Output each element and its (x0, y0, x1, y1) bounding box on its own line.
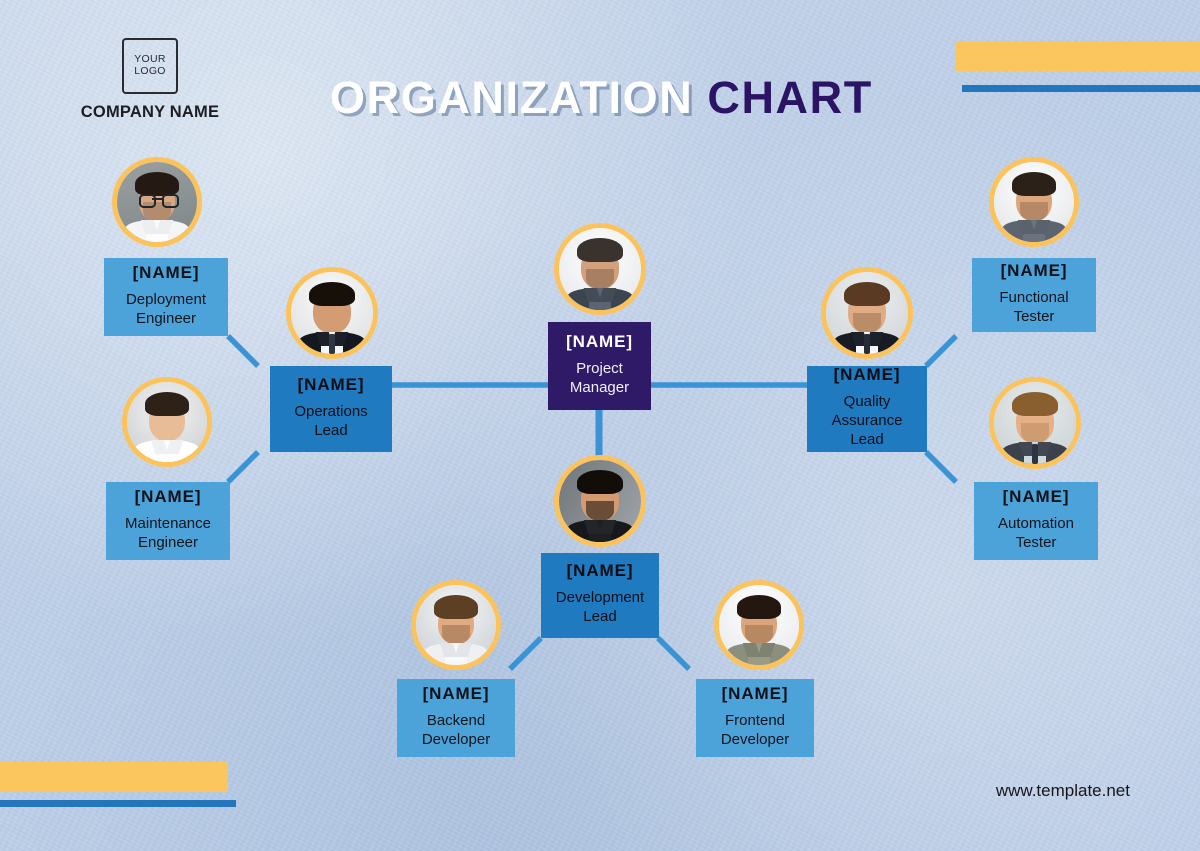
role-backend-developer: Backend Developer (422, 711, 490, 749)
glasses-icon (139, 194, 156, 208)
role-functional-tester: Functional Tester (999, 288, 1068, 326)
name-quality-assurance-lead: [NAME] (834, 366, 901, 385)
card-maintenance-engineer[interactable]: [NAME] Maintenance Engineer (106, 482, 230, 560)
footer-url[interactable]: www.template.net (996, 781, 1130, 801)
avatar-frontend-developer (714, 580, 804, 670)
portrait-automation-tester (994, 382, 1076, 464)
role-quality-assurance-lead: Quality Assurance Lead (813, 392, 921, 450)
avatar-development-lead (554, 455, 646, 547)
portrait-project-manager (559, 228, 641, 310)
name-deployment-engineer: [NAME] (133, 264, 200, 283)
avatar-deployment-engineer (112, 157, 202, 247)
card-project-manager[interactable]: [NAME] Project Manager (548, 322, 651, 410)
avatar-maintenance-engineer (122, 377, 212, 467)
name-development-lead: [NAME] (567, 562, 634, 581)
link-development-to-backend (510, 638, 541, 669)
card-quality-assurance-lead[interactable]: [NAME] Quality Assurance Lead (807, 366, 927, 452)
avatar-automation-tester (989, 377, 1081, 469)
portrait-quality-assurance-lead (826, 272, 908, 354)
avatar-functional-tester (989, 157, 1079, 247)
role-deployment-engineer: Deployment Engineer (126, 290, 206, 328)
link-deployment-to-operations (228, 336, 258, 366)
logo-line-2: LOGO (134, 66, 166, 78)
role-development-lead: Development Lead (556, 588, 644, 626)
role-automation-tester: Automation Tester (998, 514, 1074, 552)
role-project-manager: Project Manager (570, 359, 629, 397)
portrait-functional-tester (994, 162, 1074, 242)
portrait-backend-developer (416, 585, 496, 665)
avatar-operations-lead (286, 267, 378, 359)
avatar-quality-assurance-lead (821, 267, 913, 359)
name-functional-tester: [NAME] (1001, 262, 1068, 281)
page-title: ORGANIZATIONCHART (330, 72, 873, 124)
role-maintenance-engineer: Maintenance Engineer (125, 514, 211, 552)
link-maintenance-to-operations (228, 452, 258, 482)
brand-block: YOUR LOGO COMPANY NAME (71, 38, 229, 122)
logo-placeholder-icon: YOUR LOGO (122, 38, 178, 94)
portrait-deployment-engineer (117, 162, 197, 242)
name-frontend-developer: [NAME] (722, 685, 789, 704)
link-development-to-frontend (658, 638, 689, 669)
avatar-backend-developer (411, 580, 501, 670)
card-frontend-developer[interactable]: [NAME] Frontend Developer (696, 679, 814, 757)
name-project-manager: [NAME] (566, 333, 633, 352)
card-automation-tester[interactable]: [NAME] Automation Tester (974, 482, 1098, 560)
name-automation-tester: [NAME] (1003, 488, 1070, 507)
title-word-organization: ORGANIZATION (330, 72, 693, 123)
card-backend-developer[interactable]: [NAME] Backend Developer (397, 679, 515, 757)
portrait-maintenance-engineer (127, 382, 207, 462)
card-development-lead[interactable]: [NAME] Development Lead (541, 553, 659, 638)
card-operations-lead[interactable]: [NAME] Operations Lead (270, 366, 392, 452)
name-maintenance-engineer: [NAME] (135, 488, 202, 507)
portrait-development-lead (559, 460, 641, 542)
company-name: COMPANY NAME (71, 103, 229, 122)
name-operations-lead: [NAME] (298, 376, 365, 395)
role-frontend-developer: Frontend Developer (721, 711, 789, 749)
title-word-chart: CHART (707, 72, 872, 123)
organization-chart-canvas: YOUR LOGO COMPANY NAME ORGANIZATIONCHART (0, 0, 1200, 851)
portrait-operations-lead (291, 272, 373, 354)
portrait-frontend-developer (719, 585, 799, 665)
avatar-project-manager (554, 223, 646, 315)
link-qa-to-functional (926, 336, 956, 366)
card-functional-tester[interactable]: [NAME] Functional Tester (972, 258, 1096, 332)
role-operations-lead: Operations Lead (294, 402, 367, 440)
link-qa-to-automation (926, 452, 956, 482)
card-deployment-engineer[interactable]: [NAME] Deployment Engineer (104, 258, 228, 336)
name-backend-developer: [NAME] (423, 685, 490, 704)
